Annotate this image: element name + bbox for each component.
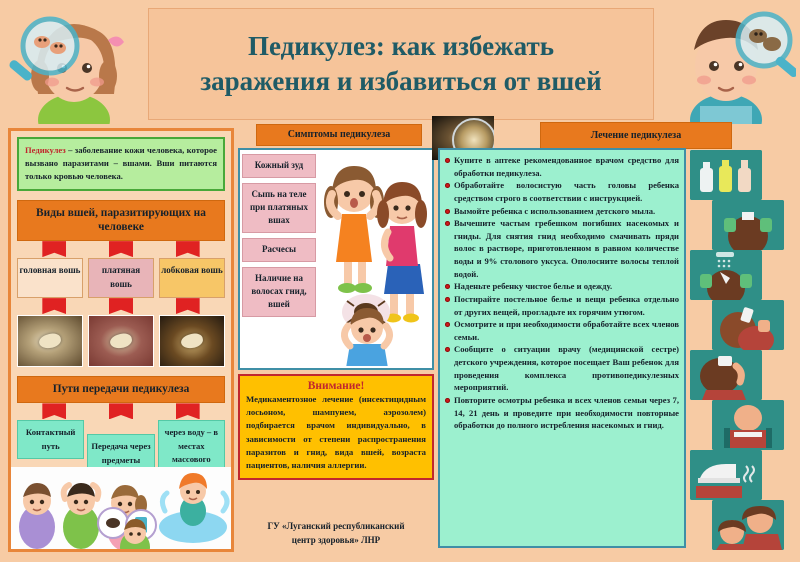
lice-types-header: Виды вшей, паразитирующих на человеке [17,200,225,242]
bullet-icon [445,347,450,352]
treatment-item: Повторите осмотры ребенка и всех членов … [444,394,679,432]
page-title-line1: Педикулез: как избежать [200,29,601,64]
bullet-icon [445,183,450,188]
symptom-item: Кожный зуд [242,154,316,178]
treatment-text: Осмотрите и при необходимости обработайт… [454,318,679,343]
lice-type-label: головная вошь [17,258,83,298]
treatment-item: Купите в аптеке рекомендованное врачом с… [444,154,679,179]
treatment-text: Купите в аптеке рекомендованное врачом с… [454,154,679,179]
body-louse-photo [88,315,154,367]
down-arrow-icon [42,241,66,257]
bullet-icon [445,158,450,163]
arrow-row-paths [21,403,221,420]
treatment-text: Вычешите частым гребешком погибших насек… [454,217,679,280]
treatment-item: Наденьте ребенку чистое белье и одежду. [444,280,679,293]
clean-clothes-icon [690,350,762,400]
lice-type-label: платяная вошь [88,258,154,298]
bullet-icon [445,221,450,226]
bullet-icon [445,284,450,289]
treatment-step-illustrations [690,150,790,548]
applying-product-to-hair-icon [712,200,784,250]
warning-box: Внимание! Медикаментозное лечение (инсек… [238,374,434,480]
page-title-line2: заражения и избавиться от вшей [200,64,601,99]
symptom-item: Расчесы [242,238,316,262]
combing-hair-icon [712,300,784,350]
bullet-icon [445,322,450,327]
symptoms-panel: Кожный зуд Сыпь на теле при платяных вша… [238,148,434,370]
symptoms-header: Симптомы педикулеза [256,124,422,146]
bullet-icon [445,209,450,214]
treatment-text: Постирайте постельное белье и вещи ребен… [454,293,679,318]
down-arrow-icon [176,298,200,314]
down-arrow-icon [176,241,200,257]
treatment-text: Наденьте ребенку чистое белье и одежду. [454,280,612,293]
warning-title: Внимание! [246,380,426,392]
footer-line1: ГУ «Луганский республиканский [238,520,434,534]
definition-box: Педикулез – заболевание кожи человека, к… [17,137,225,191]
arrow-row-photos [21,298,221,315]
definition-highlight: Педикулез [25,145,66,155]
transmission-paths-header: Пути передачи педикулеза [17,376,225,403]
treatment-text: Повторите осмотры ребенка и всех членов … [454,394,679,432]
treatment-item: Осмотрите и при необходимости обработайт… [444,318,679,343]
down-arrow-icon [109,241,133,257]
washing-hair-shower-icon [690,250,762,300]
poster-root: Педикулез: как избежать заражения и изба… [0,0,800,562]
symptoms-list: Кожный зуд Сыпь на теле при платяных вша… [242,154,316,322]
children-scratching-illustration [11,467,231,549]
page-title: Педикулез: как избежать заражения и изба… [148,8,654,120]
organization-footer: ГУ «Луганский республиканский центр здор… [238,520,434,547]
down-arrow-icon [109,403,133,419]
treatment-text: Вымойте ребенка с использованием детског… [454,205,655,218]
treatment-item: Обработайте волосистую часть головы ребе… [444,179,679,204]
family-inspection-icon [712,500,784,550]
washing-bed-linen-icon [712,400,784,450]
down-arrow-icon [176,403,200,419]
middle-column-panel: Симптомы педикулеза Кожный зуд Сыпь на т… [238,128,434,552]
down-arrow-icon [42,298,66,314]
right-column-panel: Лечение педикулеза Купите в аптеке реком… [438,128,792,552]
treatment-item: Вычешите частым гребешком погибших насек… [444,217,679,280]
lice-photo-row [17,315,225,367]
lice-type-label: лобковая вошь [159,258,225,298]
bullet-icon [445,297,450,302]
down-arrow-icon [42,403,66,419]
symptom-item: Наличие на волосах гнид, вшей [242,267,316,317]
bottles-remedies-icon [690,150,762,200]
arrow-row-types [21,241,221,258]
treatment-item: Постирайте постельное белье и вещи ребен… [444,293,679,318]
boy-with-magnifier-icon [660,2,796,124]
bullet-icon [445,398,450,403]
warning-text: Медикаментозное лечение (инсектицидным л… [246,393,426,472]
symptom-item: Сыпь на теле при платяных вшах [242,183,316,233]
head-louse-photo [17,315,83,367]
treatment-list: Купите в аптеке рекомендованное врачом с… [438,148,686,548]
treatment-item: Вымойте ребенка с использованием детског… [444,205,679,218]
footer-line2: центр здоровья» ЛНР [238,534,434,548]
girl-with-magnifier-icon [4,2,146,124]
treatment-header: Лечение педикулеза [540,122,732,149]
treatment-item: Сообщите о ситуации врачу (медицинской с… [444,343,679,394]
treatment-text: Обработайте волосистую часть головы ребе… [454,179,679,204]
down-arrow-icon [109,298,133,314]
left-column-panel: Педикулез – заболевание кожи человека, к… [8,128,234,552]
pubic-louse-photo [159,315,225,367]
children-itching-illustration [318,152,432,366]
transmission-path-item: Контактный путь [17,420,84,459]
lice-types-row: головная вошь платяная вошь лобковая вош… [17,258,225,298]
treatment-text: Сообщите о ситуации врачу (медицинской с… [454,343,679,394]
ironing-icon [690,450,762,500]
